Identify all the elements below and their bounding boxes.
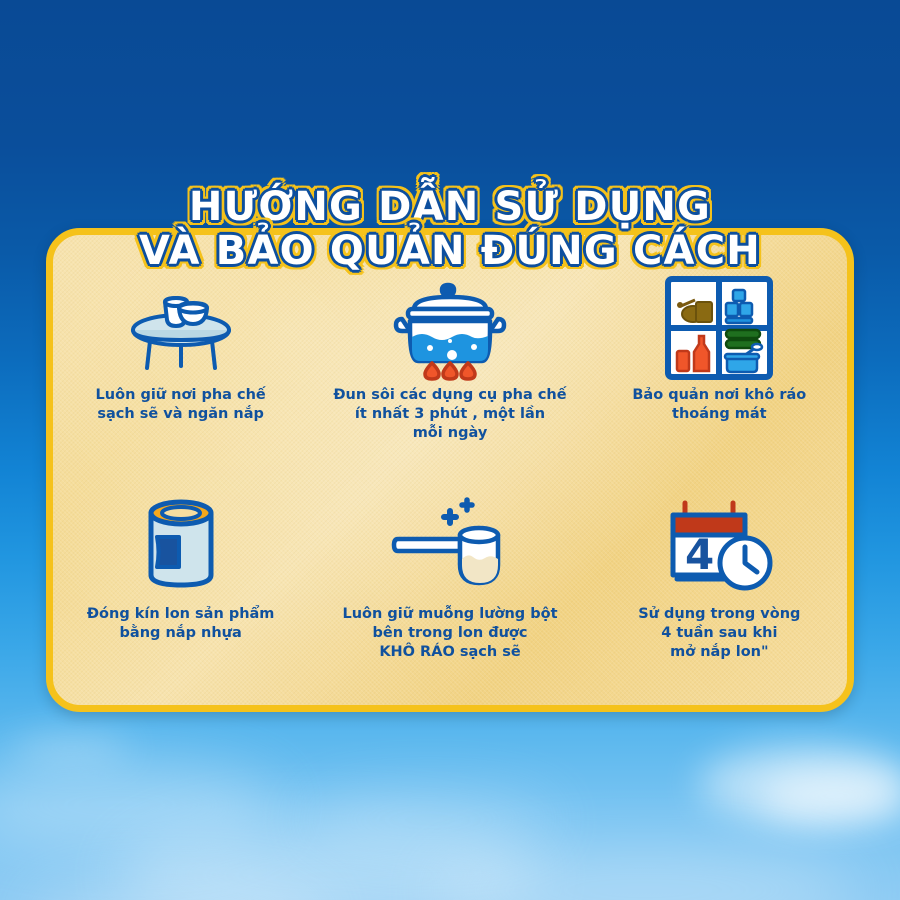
tip-item-boil-utensils: Đun sôi các dụng cụ pha chế ít nhất 3 ph… [315,270,584,485]
cloud-decoration [120,820,540,900]
cloud-decoration [700,745,900,823]
tip-item-keep-scoop-dry: Luôn giữ muỗng lường bột bên trong lon đ… [315,485,584,700]
tip-caption: Luôn giữ nơi pha chế sạch sẽ và ngăn nắp [96,386,266,424]
cloud-decoration [0,760,280,850]
tip-item-store-dry-cool: Bảo quản nơi khô ráo thoáng mát [585,270,854,485]
cloud-decoration [430,845,860,900]
sealed-can-icon [129,491,233,599]
cloud-decoration [760,770,900,822]
cloud-decoration [30,880,330,900]
tips-grid: Luôn giữ nơi pha chế sạch sẽ và ngăn nắp [46,270,854,700]
tip-caption: Sử dụng trong vòng 4 tuần sau khi mở nắp… [638,605,800,662]
tip-caption: Bảo quản nơi khô ráo thoáng mát [632,386,806,424]
page-title-line-1: HƯỚNG DẪN SỬ DỤNG [0,185,900,229]
page-title: HƯỚNG DẪN SỬ DỤNG VÀ BẢO QUẢN ĐÚNG CÁCH [0,185,900,273]
page-title-line-2: VÀ BẢO QUẢN ĐÚNG CÁCH [0,229,900,273]
cloud-decoration [10,735,130,761]
tip-caption: Đun sôi các dụng cụ pha chế ít nhất 3 ph… [333,386,566,443]
poster-canvas: HƯỚNG DẪN SỬ DỤNG VÀ BẢO QUẢN ĐÚNG CÁCH [0,0,900,900]
cloud-decoration [300,790,560,850]
tip-caption: Luôn giữ muỗng lường bột bên trong lon đ… [342,605,557,662]
tip-item-use-within-4-weeks: 4 Sử dụng trong vòng 4 tuần sau khi mở n… [585,485,854,700]
boiling-pot-icon [388,276,512,380]
measuring-scoop-icon [386,491,514,599]
tip-caption: Đóng kín lon sản phẩm bằng nắp nhựa [87,605,275,643]
calendar-clock-icon: 4 [661,491,777,599]
calendar-day-number: 4 [685,530,714,579]
cupboard-shelf-icon [663,276,775,380]
tip-item-close-can-lid: Đóng kín lon sản phẩm bằng nắp nhựa [46,485,315,700]
tip-item-clean-prep-area: Luôn giữ nơi pha chế sạch sẽ và ngăn nắp [46,270,315,485]
table-with-bowls-icon [121,276,241,380]
